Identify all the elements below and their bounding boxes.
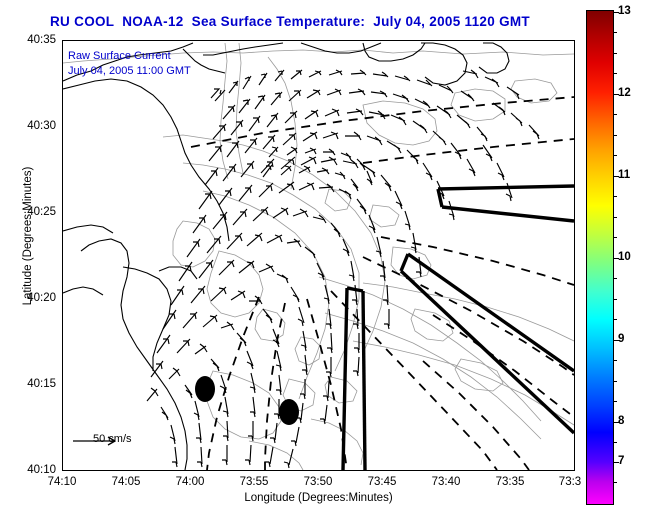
radar-station-markers <box>195 376 299 425</box>
x-tick-label-73-35: 73:35 <box>480 476 540 488</box>
x-tick-label-73-55: 73:55 <box>224 476 284 488</box>
x-axis-title: Longitude (Degrees:Minutes) <box>62 492 575 504</box>
map-plot-area[interactable]: Raw Surface Current July 04, 2005 11:00 … <box>62 40 575 471</box>
velocity-scale-label: 50 cm/s <box>93 433 132 445</box>
figure-canvas: RU COOL NOAA-12 Sea Surface Temperature:… <box>0 0 651 515</box>
temperature-colorbar <box>586 10 614 505</box>
y-axis-title: Latitude (Degrees:Minutes) <box>22 116 34 356</box>
annotation-line-1: Raw Surface Current <box>68 50 171 62</box>
x-tick-label-73-45: 73:45 <box>352 476 412 488</box>
radial-range-lines <box>191 97 574 470</box>
colorbar-tick-10: 10 <box>618 251 631 263</box>
x-tick-label-73-40: 73:40 <box>416 476 476 488</box>
colorbar-tick-7: 7 <box>618 455 624 467</box>
y-tick-label-40-10: 40:10 <box>0 464 56 476</box>
annotation-line-2: July 04, 2005 11:00 GMT <box>68 65 191 77</box>
y-tick-label-40-15: 40:15 <box>0 378 56 390</box>
colorbar-tick-13: 13 <box>618 5 631 17</box>
radar-coverage-wedges <box>343 186 574 470</box>
colorbar-tick-11: 11 <box>618 169 630 181</box>
y-tick-label-40-35: 40:35 <box>0 34 56 46</box>
colorbar-tick-12: 12 <box>618 87 631 99</box>
figure-title: RU COOL NOAA-12 Sea Surface Temperature:… <box>0 14 580 29</box>
x-tick-label-74-00: 74:00 <box>160 476 220 488</box>
colorbar-tick-8: 8 <box>618 415 624 427</box>
x-tick-label-73-50: 73:50 <box>288 476 348 488</box>
map-overlays <box>63 41 574 470</box>
x-tick-label-74-05: 74:05 <box>96 476 156 488</box>
colorbar-tick-9: 9 <box>618 333 624 345</box>
bathymetry-contours <box>63 43 574 470</box>
x-tick-label-74-10: 74:10 <box>32 476 92 488</box>
